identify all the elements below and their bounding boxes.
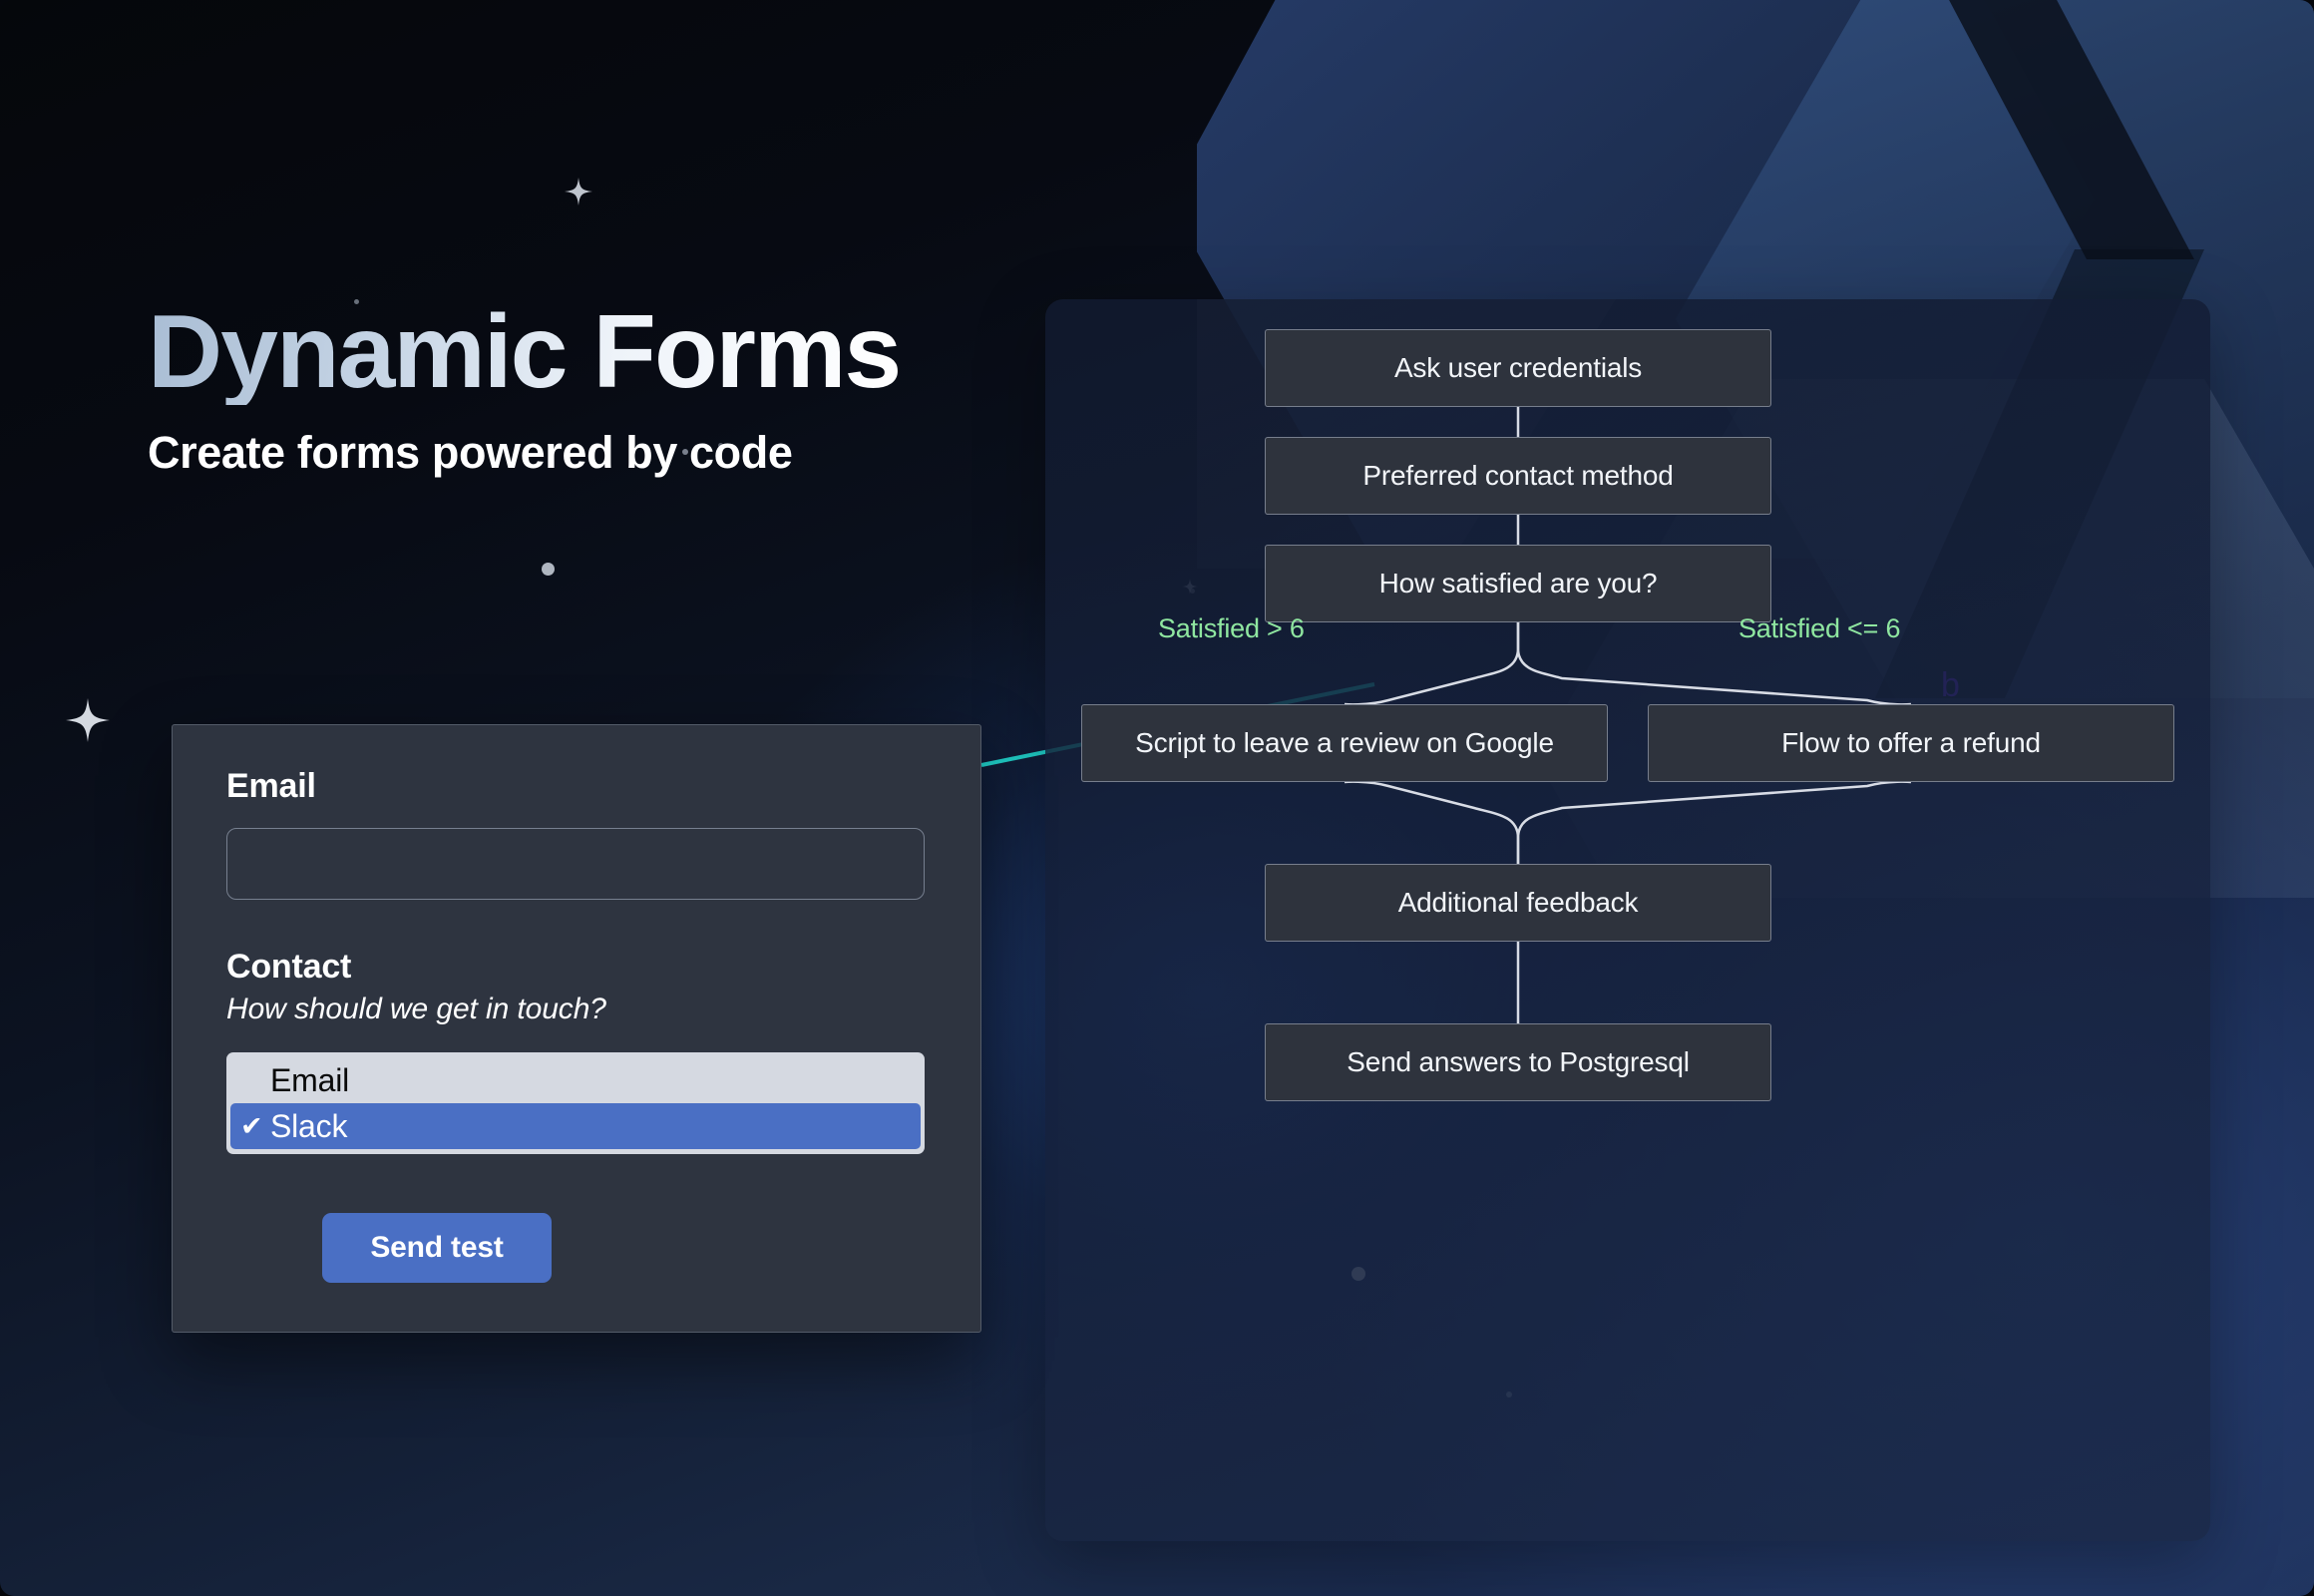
listbox-option-label: Email: [270, 1062, 349, 1099]
page-subtitle: Create forms powered by code: [148, 427, 900, 479]
flow-canvas[interactable]: Ask user credentials Preferred contact m…: [1045, 299, 2210, 1541]
hero-section: Dynamic Forms Create forms powered by co…: [148, 299, 900, 479]
contact-method-listbox[interactable]: Email ✔ Slack: [226, 1052, 925, 1154]
flow-node-how-satisfied-are-you[interactable]: How satisfied are you?: [1265, 545, 1771, 622]
dynamic-form-card: Email Contact How should we get in touch…: [172, 724, 981, 1333]
check-icon: ✔: [240, 1111, 270, 1142]
listbox-option-label: Slack: [270, 1108, 347, 1145]
edge-label-satisfied-gt-6: Satisfied > 6: [1158, 613, 1305, 644]
flow-node-label: Flow to offer a refund: [1781, 727, 2041, 759]
star-dot: [542, 563, 555, 576]
flow-node-label: Script to leave a review on Google: [1135, 727, 1554, 759]
flow-node-label: Send answers to Postgresql: [1347, 1046, 1689, 1078]
contact-field-help: How should we get in touch?: [226, 993, 927, 1026]
flow-node-preferred-contact-method[interactable]: Preferred contact method: [1265, 437, 1771, 515]
edge-label-satisfied-le-6: Satisfied <= 6: [1738, 613, 1900, 644]
page-root: b Dynamic Forms Create forms powered by …: [0, 0, 2314, 1596]
listbox-option-slack[interactable]: ✔ Slack: [230, 1103, 921, 1149]
sparkle-icon: [66, 698, 110, 742]
flow-node-label: Ask user credentials: [1394, 352, 1642, 384]
flow-node-additional-feedback[interactable]: Additional feedback: [1265, 864, 1771, 942]
flow-node-label: How satisfied are you?: [1379, 568, 1658, 599]
flow-diagram-panel: Ask user credentials Preferred contact m…: [1045, 299, 2210, 1541]
flow-node-label: Additional feedback: [1398, 887, 1639, 919]
flow-node-flow-offer-refund[interactable]: Flow to offer a refund: [1648, 704, 2174, 782]
email-field-label: Email: [226, 767, 927, 806]
page-title: Dynamic Forms: [148, 299, 900, 405]
email-input[interactable]: [226, 828, 925, 900]
sparkle-icon: [565, 178, 592, 205]
listbox-option-email[interactable]: Email: [230, 1057, 921, 1103]
flow-node-ask-user-credentials[interactable]: Ask user credentials: [1265, 329, 1771, 407]
flow-node-send-answers-postgresql[interactable]: Send answers to Postgresql: [1265, 1023, 1771, 1101]
contact-field-label: Contact: [226, 948, 927, 987]
send-test-button[interactable]: Send test: [322, 1213, 552, 1283]
flow-node-label: Preferred contact method: [1362, 460, 1673, 492]
flow-node-script-review-google[interactable]: Script to leave a review on Google: [1081, 704, 1608, 782]
